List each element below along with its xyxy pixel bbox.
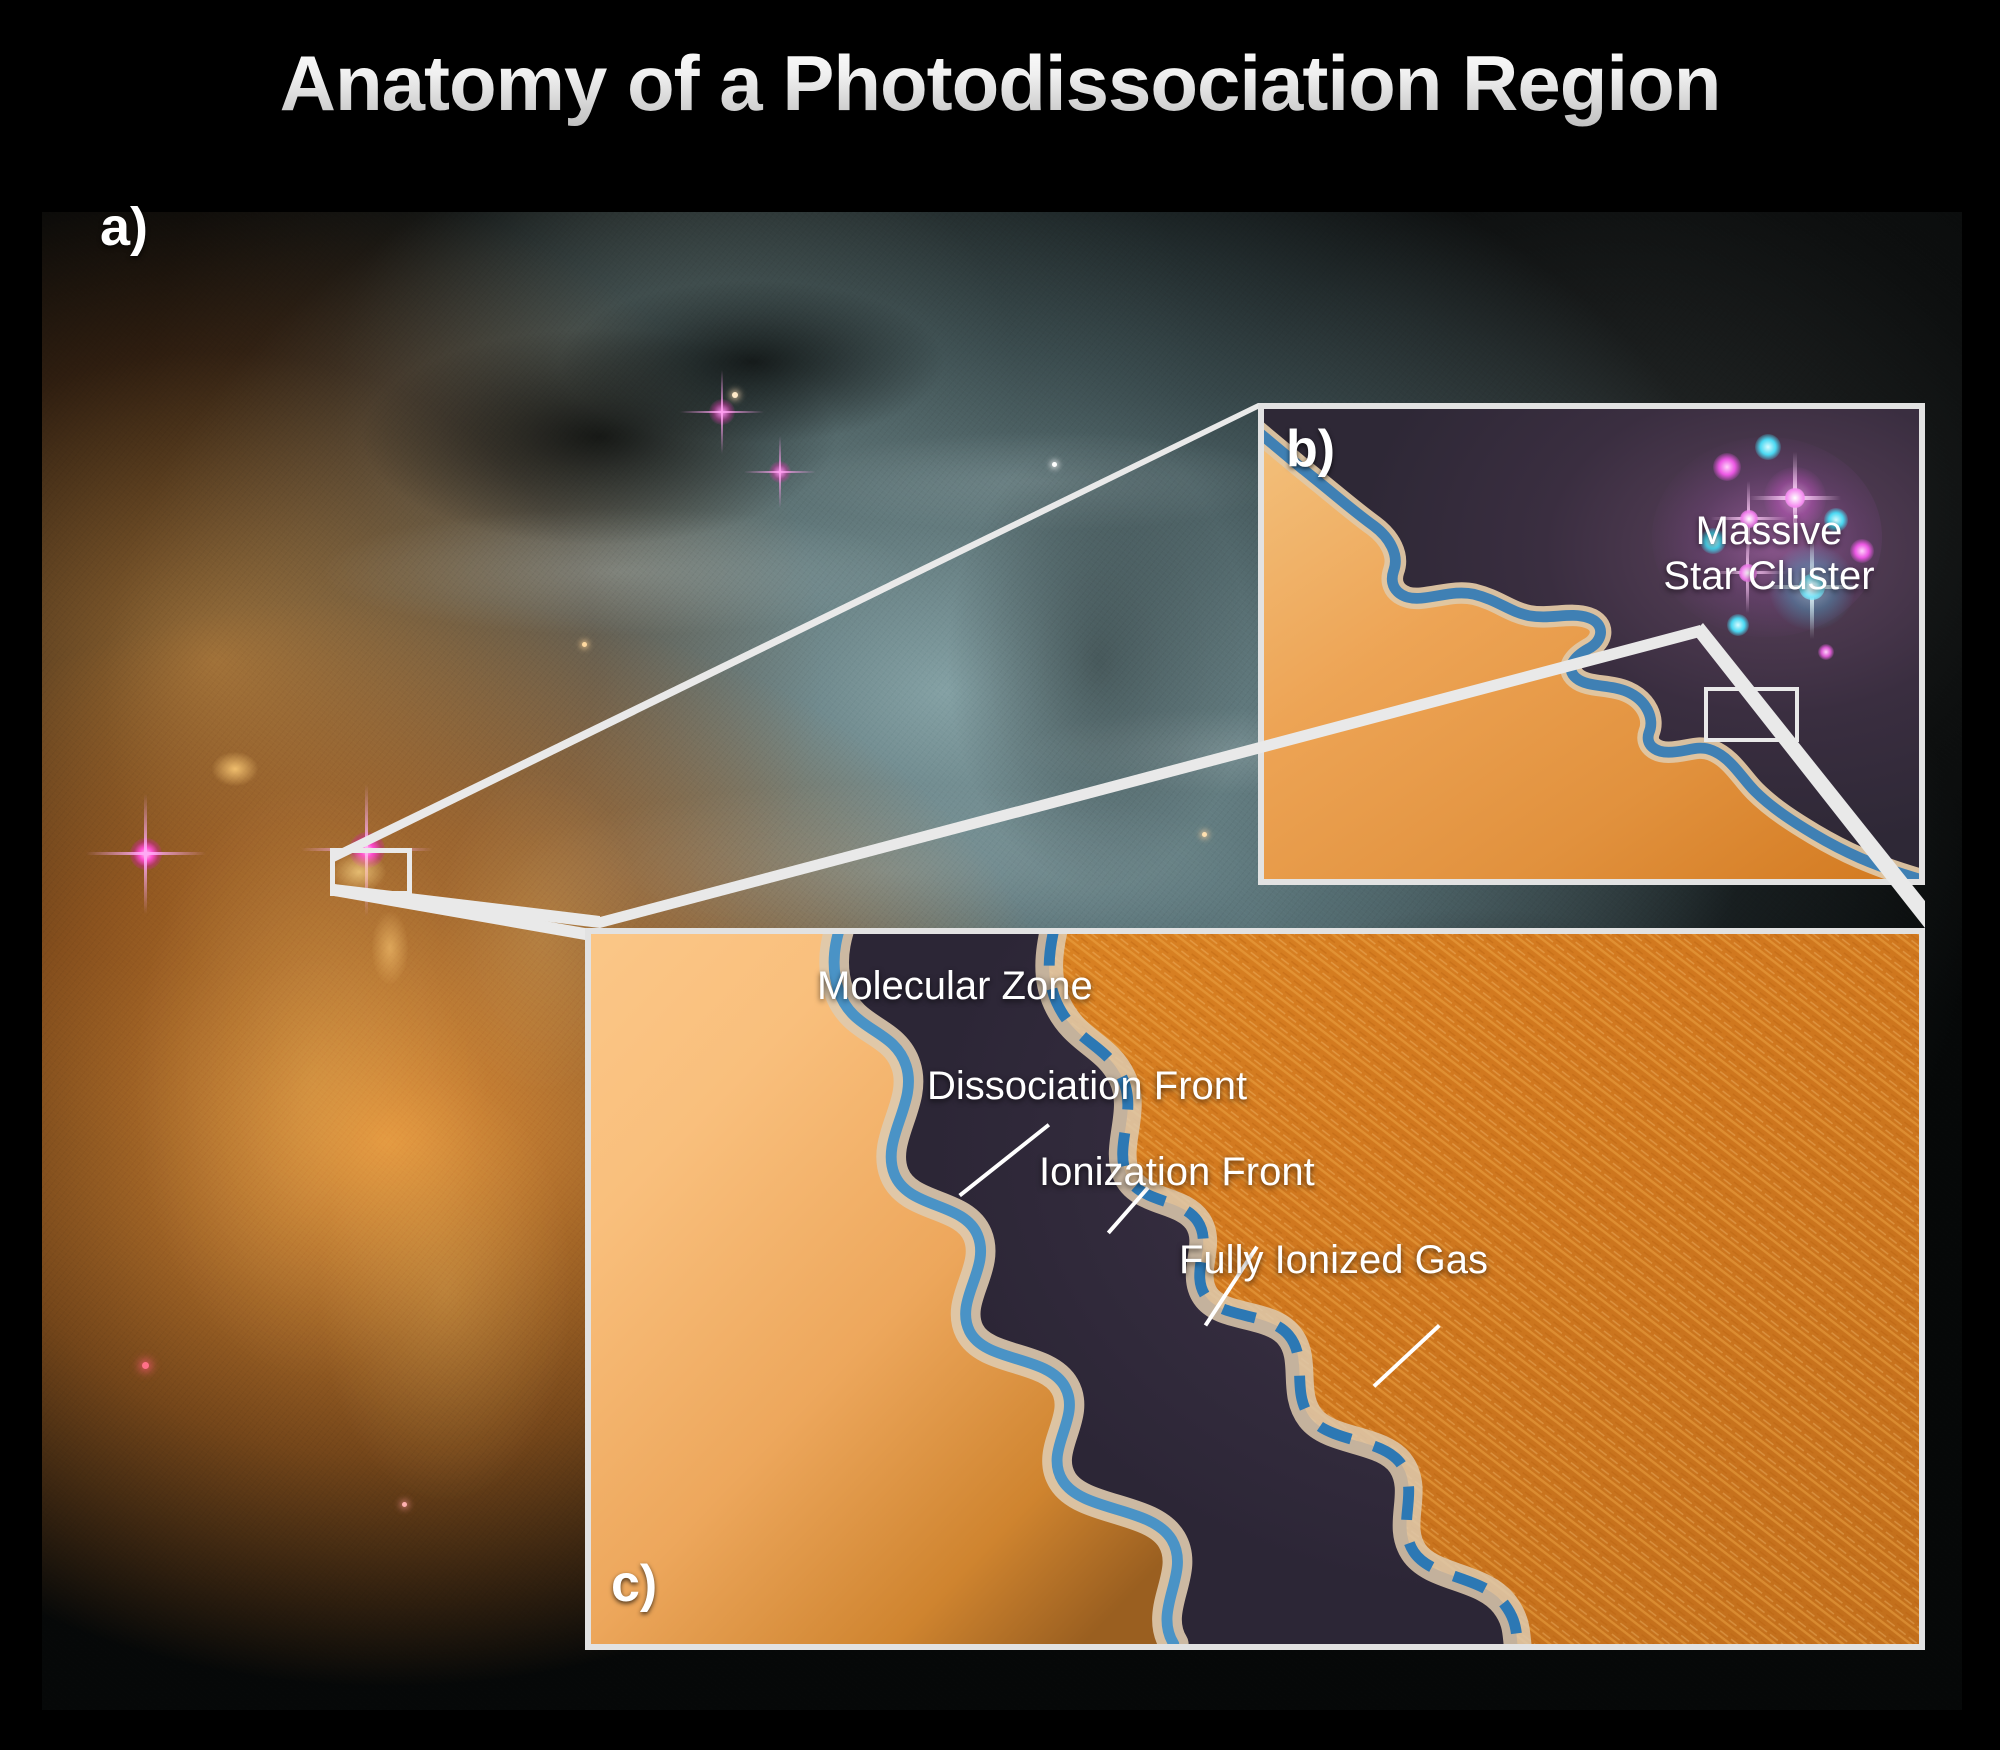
star-point (142, 1362, 149, 1369)
star-point (732, 392, 738, 398)
dissociation-front-label: Dissociation Front (927, 1064, 1247, 1109)
panel-b-ionization-front-zoom: Massive Star Cluster b) (1258, 403, 1925, 885)
star-point (402, 1502, 407, 1507)
molecular-zone-label: Molecular Zone (817, 964, 1093, 1009)
panel-b-tag: b) (1286, 419, 1335, 479)
panel-b-callout-box[interactable] (1704, 687, 1799, 742)
proplyd-blob (372, 912, 408, 984)
star-point (582, 642, 587, 647)
page-title: Anatomy of a Photodissociation Region (0, 38, 2000, 129)
figure-root: Anatomy of a Photodissociation Region (0, 0, 2000, 1750)
panel-a-tag: a) (100, 196, 148, 258)
star-point (1202, 832, 1207, 837)
panel-c-tag: c) (611, 1554, 657, 1614)
fully-ionized-gas-label: Fully Ionized Gas (1179, 1238, 1488, 1283)
star-point (1052, 462, 1057, 467)
massive-star-cluster-label-line1: Massive (1639, 509, 1899, 554)
panel-c-pdr-diagram (591, 934, 1919, 1644)
proplyd-blob (212, 752, 258, 786)
massive-star-cluster-label-line2: Star Cluster (1639, 554, 1899, 599)
massive-star-cluster-label: Massive Star Cluster (1639, 509, 1899, 599)
ionization-front-label: Ionization Front (1039, 1150, 1315, 1195)
panel-a-callout-box[interactable] (330, 848, 412, 896)
panel-c-pdr-structure: Molecular Zone Dissociation Front Ioniza… (585, 928, 1925, 1650)
